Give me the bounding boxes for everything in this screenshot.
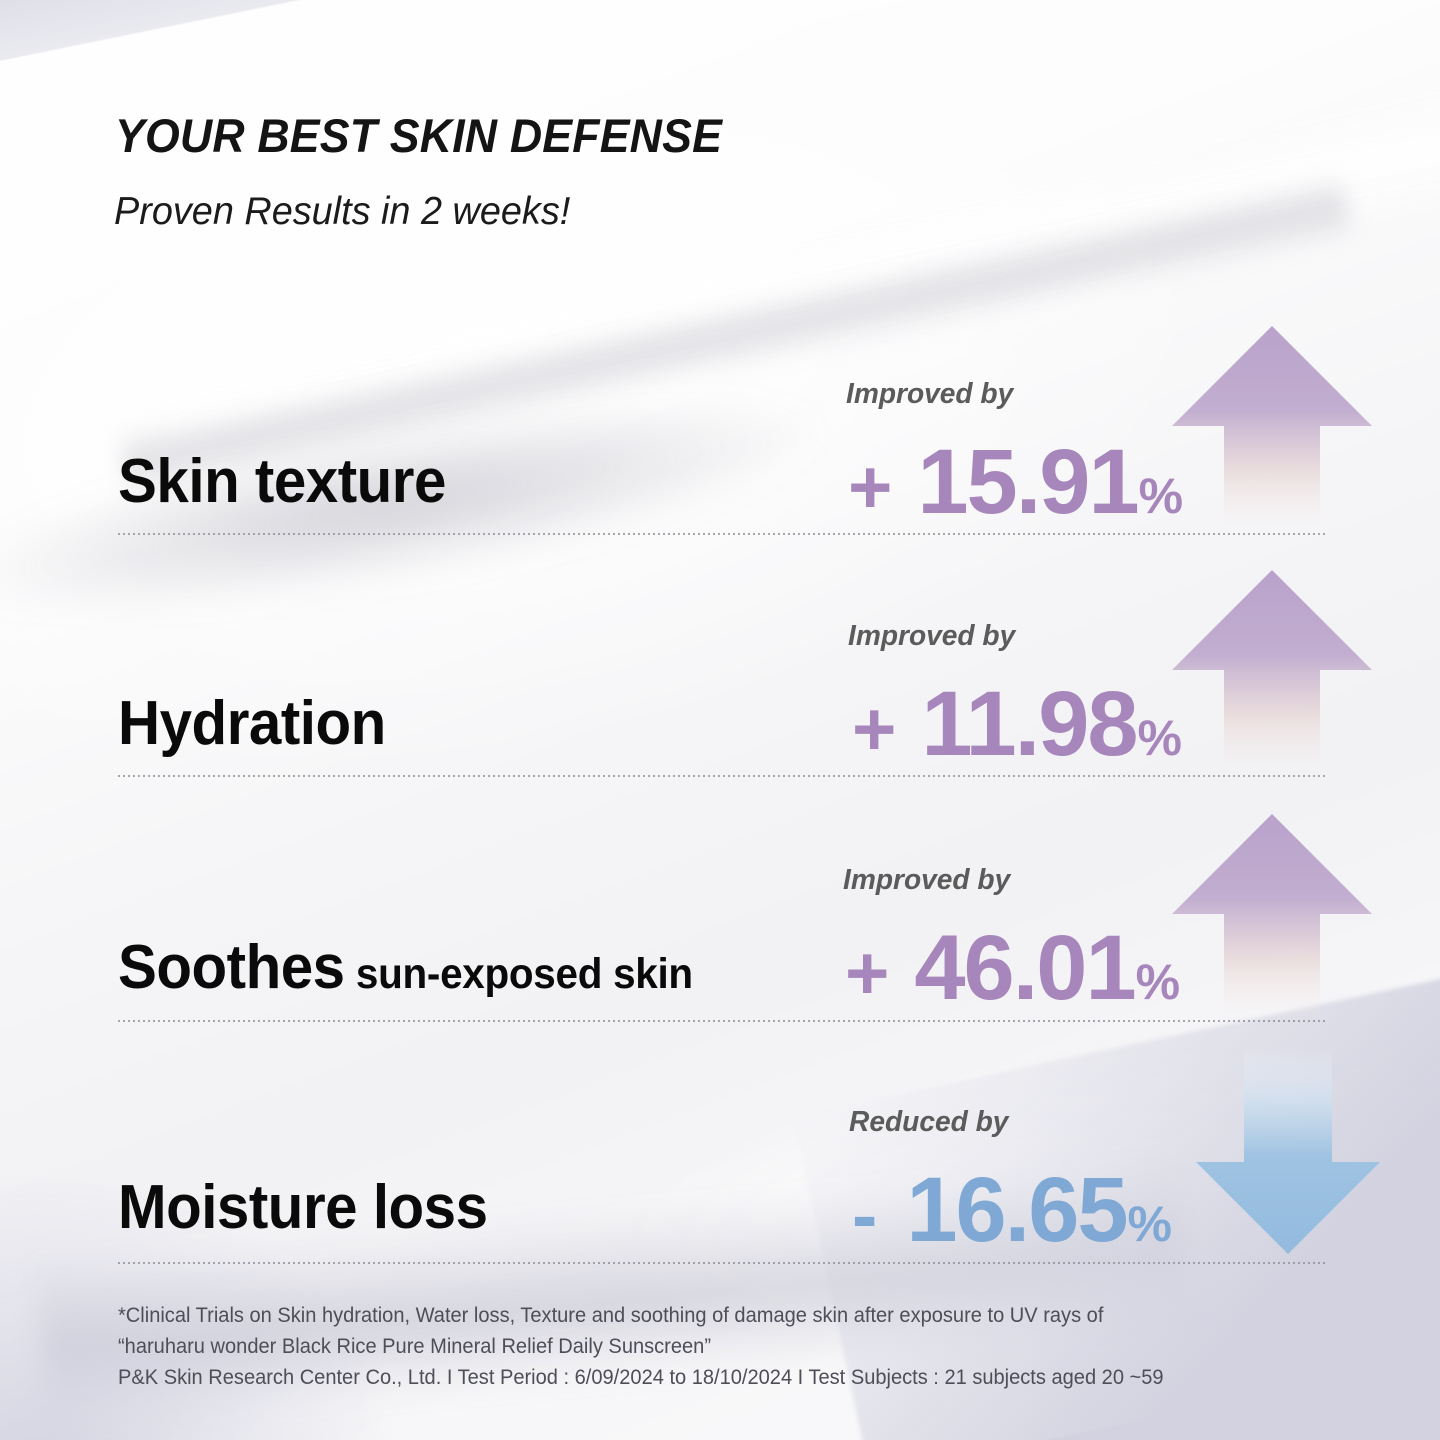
row-value: -16.65% [852,1158,1171,1263]
row-caption: Improved by [843,864,1010,897]
row-label-skin-texture: Skin texture [118,446,446,517]
value-number: 15.91 [917,431,1137,533]
value-percent: % [1128,1196,1171,1252]
row-label-sub: sun-exposed skin [356,950,693,998]
arrow-down-icon [1192,1046,1384,1258]
row-divider [118,1262,1326,1264]
value-percent: % [1138,710,1181,766]
row-label-moisture-loss: Moisture loss [118,1172,488,1243]
row-label-main: Moisture loss [118,1173,488,1242]
arrow-up-icon [1168,566,1376,772]
footnote: *Clinical Trials on Skin hydration, Wate… [118,1300,1164,1393]
footnote-line-3: P&K Skin Research Center Co., Ltd. I Tes… [118,1362,1164,1393]
row-label-hydration: Hydration [118,688,386,759]
value-sign: + [845,931,888,1016]
row-label-soothes: Soothessun-exposed skin [118,932,693,1003]
value-sign: + [852,687,895,772]
arrow-up-icon [1168,810,1376,1016]
row-divider [118,1020,1326,1022]
value-sign: - [852,1173,876,1258]
footnote-line-2: “haruharu wonder Black Rice Pure Mineral… [118,1331,1164,1362]
value-percent: % [1139,468,1182,524]
value-sign: + [848,445,891,530]
footnote-line-1: *Clinical Trials on Skin hydration, Wate… [118,1300,1164,1331]
row-value: +11.98% [852,672,1181,777]
row-value: +15.91% [848,430,1182,535]
row-caption: Improved by [848,620,1015,653]
row-label-main: Hydration [118,689,386,758]
page-subtitle: Proven Results in 2 weeks! [114,190,570,234]
row-label-main: Soothes [118,933,345,1002]
infographic-content: YOUR BEST SKIN DEFENSE Proven Results in… [0,0,1440,1440]
value-number: 11.98 [921,673,1136,775]
row-caption: Reduced by [849,1106,1008,1139]
arrow-up-icon [1168,322,1376,528]
row-value: +46.01% [845,916,1179,1021]
row-divider [118,533,1326,535]
value-number: 46.01 [914,917,1134,1019]
row-divider [118,775,1326,777]
value-number: 16.65 [906,1159,1126,1261]
page-title: YOUR BEST SKIN DEFENSE [115,108,722,163]
row-label-main: Skin texture [118,447,446,516]
row-caption: Improved by [846,378,1013,411]
value-percent: % [1136,954,1179,1010]
